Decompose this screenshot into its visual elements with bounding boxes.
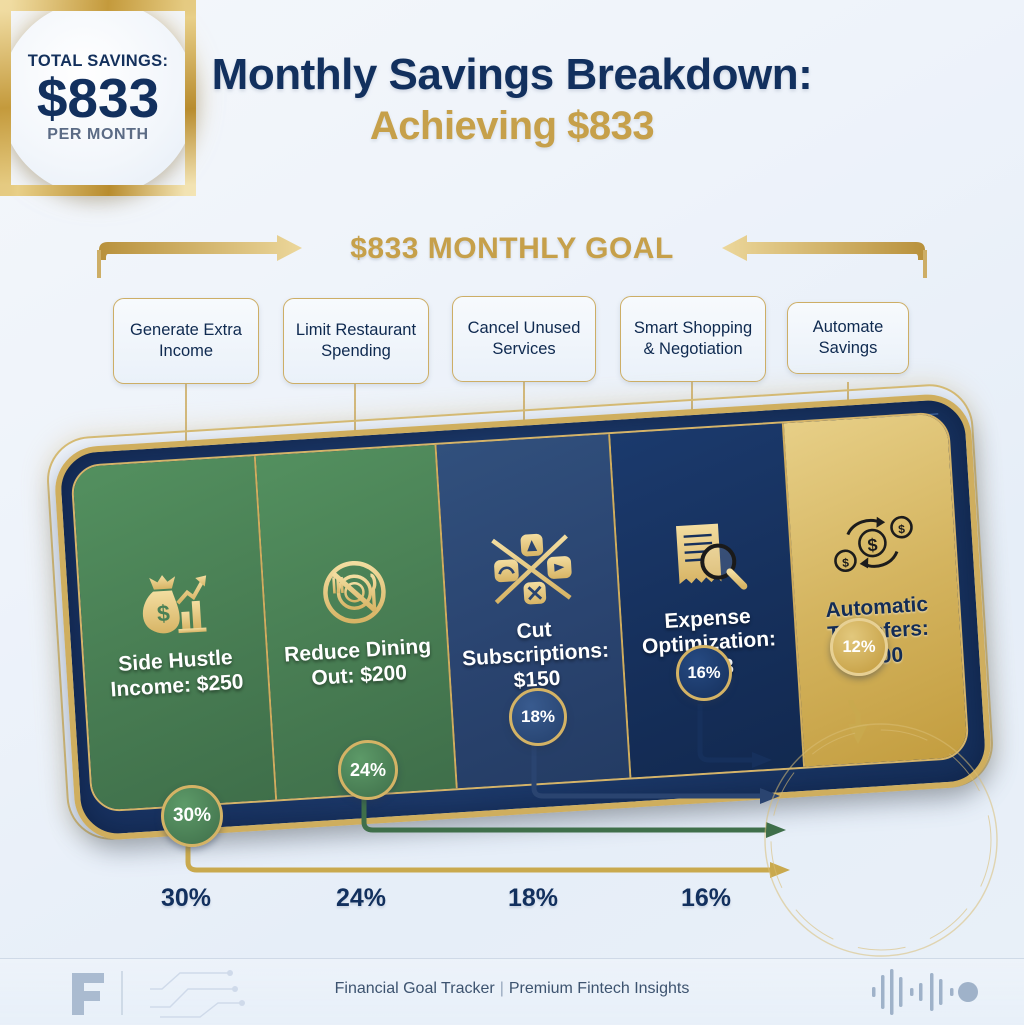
callout-box-3[interactable]: Cancel Unused Services <box>452 296 596 382</box>
percent-badge-label-2: 24% <box>350 760 386 781</box>
svg-text:$: $ <box>156 600 171 627</box>
page-title: Monthly Savings Breakdown: Achieving $83… <box>0 52 1024 147</box>
percent-badge-label-4: 16% <box>687 664 720 683</box>
cancel-subscriptions-icon <box>482 527 579 616</box>
percent-badge-4[interactable]: 16% <box>676 645 732 701</box>
footer-text-right: Premium Fintech Insights <box>509 980 690 997</box>
auto-transfer-gears-icon: $ $ $ <box>825 508 922 593</box>
footer-separator: | <box>495 980 509 997</box>
callout-label-3: Cancel Unused Services <box>459 318 589 360</box>
percent-badge-label-1: 30% <box>173 805 211 827</box>
callout-box-2[interactable]: Limit Restaurant Spending <box>283 298 429 384</box>
svg-text:$: $ <box>867 534 878 555</box>
percent-badge-2[interactable]: 24% <box>338 740 398 800</box>
percent-badge-1[interactable]: 30% <box>161 785 223 847</box>
connector-18 <box>534 745 760 796</box>
title-line-2: Achieving $833 <box>0 106 1024 148</box>
segment-label-1: Side Hustle Income: $250 <box>84 644 269 704</box>
no-dining-icon <box>313 554 396 636</box>
percent-badge-label-3: 18% <box>521 707 555 727</box>
infographic-root: Monthly Savings Breakdown: Achieving $83… <box>0 0 1024 1024</box>
callout-box-1[interactable]: Generate Extra Income <box>113 298 259 384</box>
svg-text:$: $ <box>898 522 906 536</box>
percent-badge-3[interactable]: 18% <box>509 688 567 746</box>
callout-label-5: Automate Savings <box>794 317 902 359</box>
connector-30 <box>188 830 770 870</box>
goal-text: $833 MONTHLY GOAL <box>0 232 1024 266</box>
footer: Financial Goal Tracker|Premium Fintech I… <box>0 958 1024 1025</box>
svg-text:$: $ <box>842 555 850 569</box>
goal-banner: $833 MONTHLY GOAL <box>0 232 1024 278</box>
money-bag-growth-icon: $ <box>131 566 213 646</box>
segment-label-3: Cut Subscriptions: $150 <box>448 614 624 698</box>
callout-label-1: Generate Extra Income <box>120 320 252 362</box>
callout-box-4[interactable]: Smart Shopping & Negotiation <box>620 296 766 382</box>
title-line-1: Monthly Savings Breakdown: <box>0 52 1024 98</box>
total-circle-rings <box>761 720 1001 960</box>
receipt-magnifier-icon <box>659 518 748 604</box>
connector-16 <box>700 704 752 760</box>
segment-label-2: Reduce Dining Out: $200 <box>268 634 449 694</box>
percent-badge-label-5: 12% <box>842 638 875 657</box>
footer-text-left: Financial Goal Tracker <box>335 980 495 997</box>
audio-waveform-icon <box>866 959 996 1025</box>
callout-box-5[interactable]: Automate Savings <box>787 302 909 374</box>
callout-label-2: Limit Restaurant Spending <box>290 320 422 362</box>
callout-label-4: Smart Shopping & Negotiation <box>627 318 759 360</box>
percent-badge-5[interactable]: 12% <box>830 618 888 676</box>
